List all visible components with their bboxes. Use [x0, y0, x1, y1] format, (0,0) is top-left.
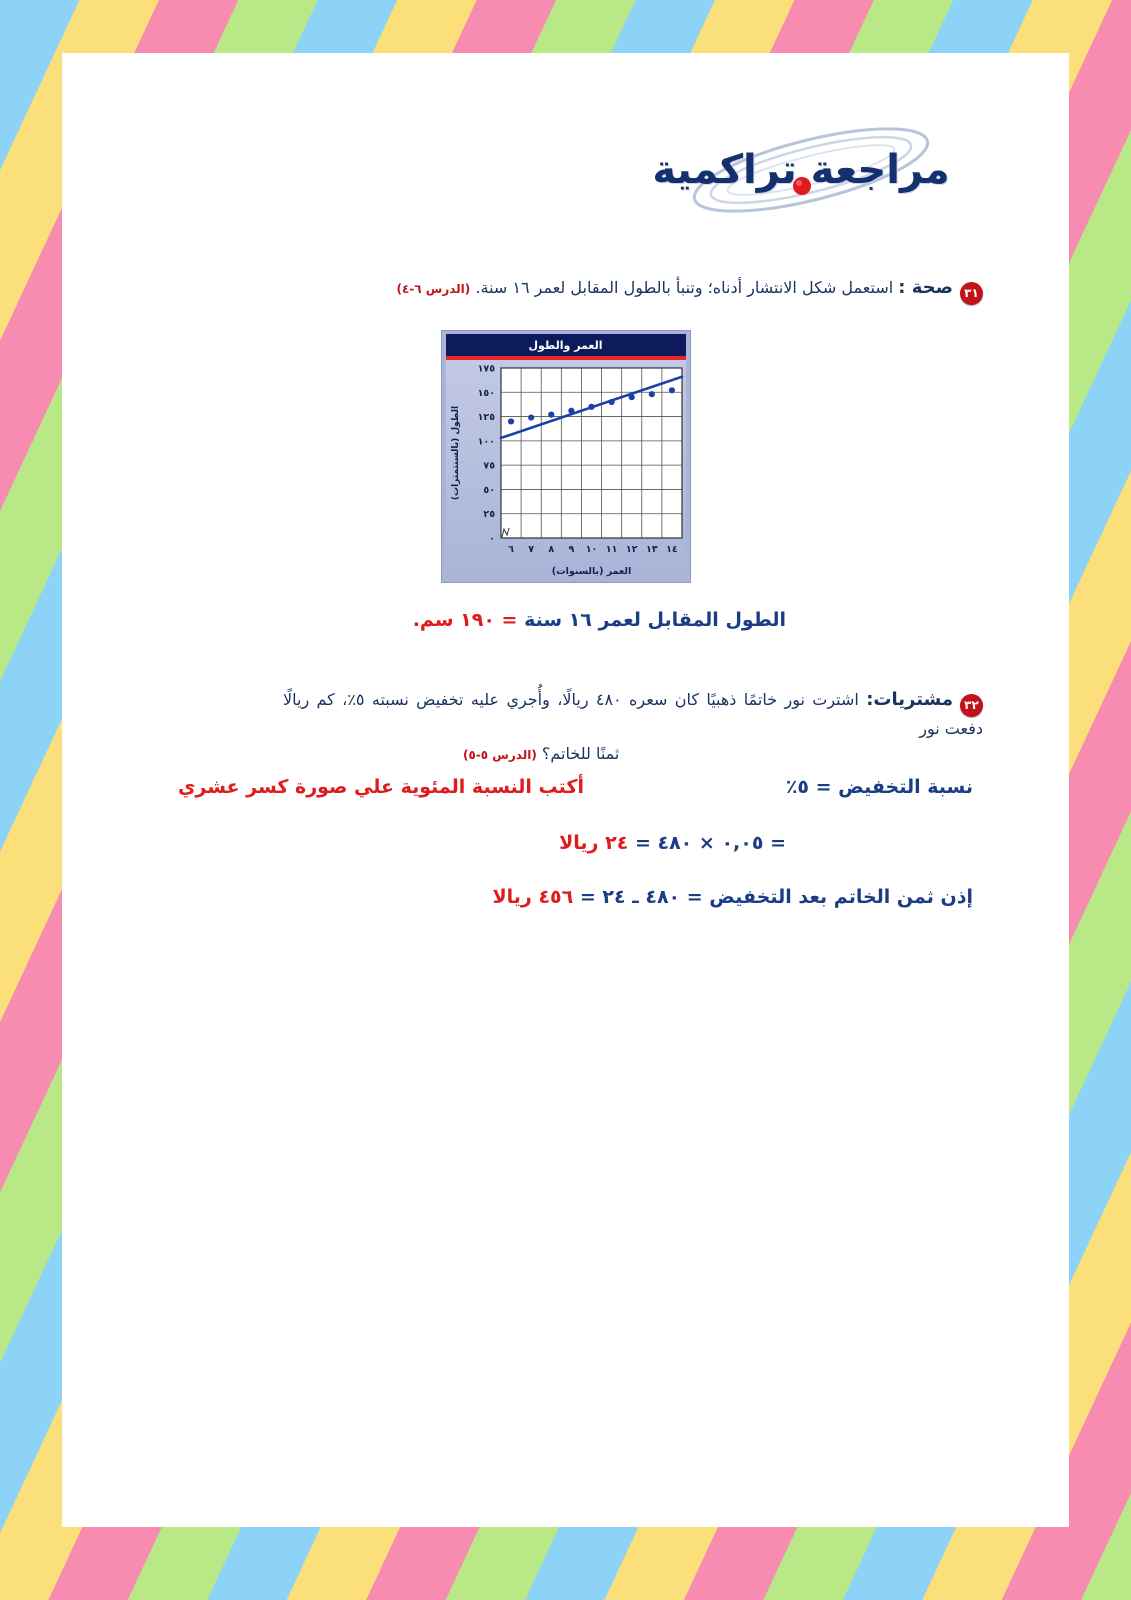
svg-text:٦: ٦ [508, 544, 514, 555]
svg-text:٢٥: ٢٥ [483, 509, 495, 520]
scatter-plot-figure: العمر والطول ٠٢٥٥٠٧٥١٠٠١٢٥١٥٠١٧٥٦٧٨٩١٠١١… [441, 330, 691, 583]
solution-31-blue: الطول المقابل لعمر ١٦ سنة [517, 609, 786, 631]
svg-text:٩: ٩ [568, 544, 574, 555]
page-content: مراجعة تراكمية ٣١صحة : استعمل شكل الانتش… [0, 0, 1131, 1600]
solution-32-line1-red: أكتب النسبة المئوية علي صورة كسر عشري [178, 776, 584, 798]
svg-text:١٥٠: ١٥٠ [477, 388, 494, 399]
page-title: مراجعة تراكمية [606, 120, 996, 220]
svg-text:٠: ٠ [489, 534, 495, 545]
problem-31-body: استعمل شكل الانتشار أدناه؛ وتنبأ بالطول … [470, 278, 898, 297]
svg-text:الطول (بالسنتمترات): الطول (بالسنتمترات) [451, 406, 461, 500]
chart-plot-area: ٠٢٥٥٠٧٥١٠٠١٢٥١٥٠١٧٥٦٧٨٩١٠١١١٢١٣١٤الطول (… [446, 360, 686, 578]
svg-text:٥٠: ٥٠ [483, 485, 495, 496]
solution-32-line3-red: ٤٥٦ ريالا [492, 886, 573, 908]
solution-32-line3-blue: إذن ثمن الخاتم بعد التخفيض = ٤٨٠ ـ ٢٤ = [573, 886, 973, 908]
chart-canvas: ٠٢٥٥٠٧٥١٠٠١٢٥١٥٠١٧٥٦٧٨٩١٠١١١٢١٣١٤الطول (… [446, 360, 688, 580]
problem-32-category: مشتريات: [866, 689, 953, 710]
svg-text:١١: ١١ [605, 544, 617, 555]
problem-31-statement: ٣١صحة : استعمل شكل الانتشار أدناه؛ وتنبأ… [283, 274, 983, 305]
svg-text:١٠: ١٠ [585, 544, 597, 555]
solution-31-red: = ١٩٠ سم. [413, 609, 518, 631]
solution-32-line2: = ٠,٠٥ × ٤٨٠ = ٢٤ ريالا [559, 832, 786, 854]
solution-31: الطول المقابل لعمر ١٦ سنة = ١٩٠ سم. [413, 609, 786, 631]
solution-32-line2-red: ٢٤ ريالا [559, 832, 628, 854]
chart-title: العمر والطول [446, 334, 686, 356]
problem-31-number-badge: ٣١ [960, 282, 983, 305]
svg-text:٨: ٨ [548, 544, 554, 555]
problem-31: ٣١صحة : استعمل شكل الانتشار أدناه؛ وتنبأ… [283, 274, 983, 305]
problem-32-number-badge: ٣٢ [960, 694, 983, 717]
svg-text:٧: ٧ [528, 544, 534, 555]
problem-32-statement-line1: ٣٢مشتريات: اشترت نور خاتمًا ذهبيًا كان س… [283, 686, 983, 742]
solution-32-line2-blue: = ٠,٠٥ × ٤٨٠ = [628, 832, 786, 854]
solution-32-line1-blue: نسبة التخفيض = ٥٪ [786, 776, 973, 798]
svg-text:١٧٥: ١٧٥ [477, 364, 495, 375]
svg-text:١٠٠: ١٠٠ [477, 436, 494, 447]
solution-32-line1: نسبة التخفيض = ٥٪ أكتب النسبة المئوية عل… [178, 776, 973, 798]
problem-32-lesson-ref: (الدرس ٥-٥) [463, 748, 537, 762]
page-header-banner: مراجعة تراكمية [606, 120, 996, 220]
problem-32-body-line2: ثمنًا للخاتم؟ [537, 744, 620, 763]
svg-text:١٢: ١٢ [625, 544, 637, 555]
svg-text:العمر (بالسنوات): العمر (بالسنوات) [551, 566, 630, 577]
problem-31-lesson-ref: (الدرس ٦-٤) [396, 282, 470, 296]
problem-32-statement-line2: ثمنًا للخاتم؟ (الدرس ٥-٥) [283, 742, 983, 767]
svg-text:١٤: ١٤ [666, 544, 678, 555]
problem-31-category: صحة : [898, 277, 953, 298]
svg-text:٧٥: ٧٥ [483, 461, 495, 472]
svg-text:١٢٥: ١٢٥ [477, 412, 495, 423]
solution-32-line3: إذن ثمن الخاتم بعد التخفيض = ٤٨٠ ـ ٢٤ = … [492, 886, 973, 908]
problem-32: ٣٢مشتريات: اشترت نور خاتمًا ذهبيًا كان س… [283, 686, 983, 767]
svg-text:١٣: ١٣ [646, 544, 658, 555]
